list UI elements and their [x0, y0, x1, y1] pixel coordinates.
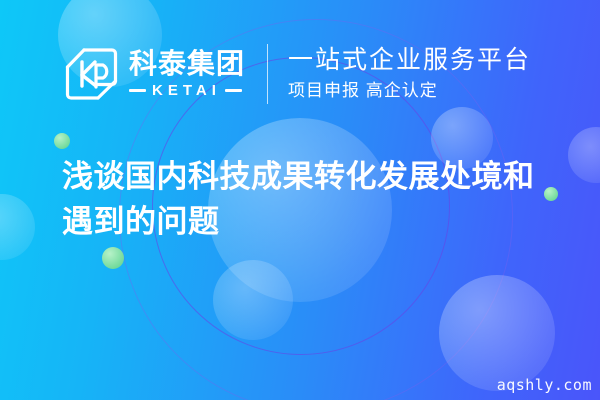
blob-center-small: [213, 260, 293, 340]
header-divider: [267, 44, 268, 104]
green-dot-upper-left: [54, 133, 70, 149]
slogan-block: 一站式企业服务平台 项目申报 高企认定: [288, 46, 531, 102]
blob-bottom-right: [439, 275, 555, 391]
blob-far-right: [568, 127, 600, 183]
page-title: 浅谈国内科技成果转化发展处境和遇到的问题: [62, 155, 562, 245]
ketai-diamond-logo-icon: [62, 45, 120, 103]
green-dot-lower-left: [102, 247, 124, 269]
site-watermark: aqshly.com: [497, 376, 592, 394]
promo-banner: 科泰集团 KETAI 一站式企业服务平台 项目申报 高企认定 浅谈国内科技成果转…: [0, 0, 600, 400]
logo-rule-right: [225, 89, 242, 92]
banner-header: 科泰集团 KETAI 一站式企业服务平台 项目申报 高企认定: [62, 38, 531, 110]
slogan-sub: 项目申报 高企认定: [288, 80, 531, 102]
logo-rule-left: [129, 89, 146, 92]
logo-wordmark: 科泰集团 KETAI: [129, 49, 245, 98]
blob-left-edge: [0, 194, 35, 260]
logo-company-cn: 科泰集团: [129, 49, 245, 78]
slogan-main: 一站式企业服务平台: [288, 46, 531, 75]
logo-company-en-row: KETAI: [129, 82, 245, 99]
logo-company-en: KETAI: [152, 82, 221, 99]
